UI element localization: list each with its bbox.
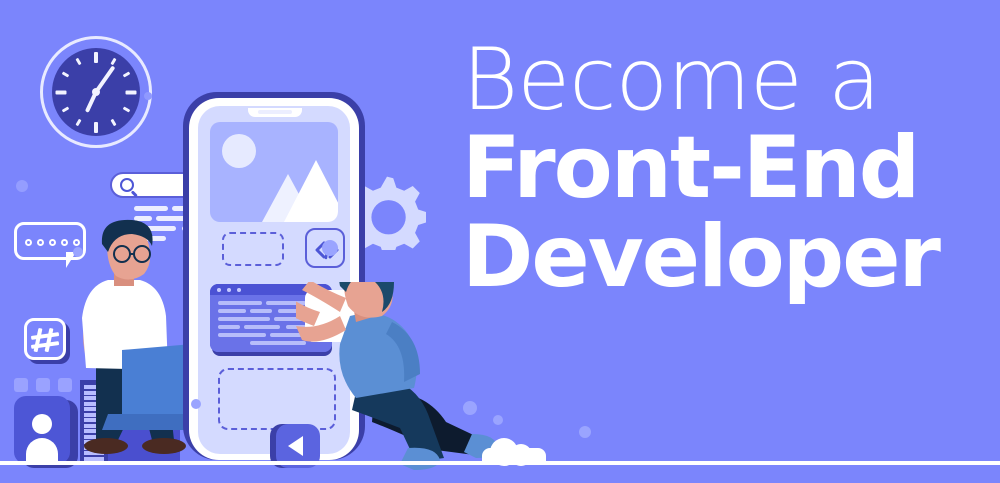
cloud-shape [482, 434, 546, 462]
banner-root: Become a Front-End Developer [0, 0, 1000, 483]
clock-tick [62, 106, 70, 112]
clock-tick [110, 58, 116, 66]
hashtag-stroke [34, 328, 42, 352]
user-icon-head [32, 414, 52, 434]
headline-line-developer: Developer [462, 215, 982, 299]
chat-bubble-dot [37, 239, 44, 246]
developer-kneeling [296, 282, 506, 472]
chat-bubble-dot [49, 239, 56, 246]
search-result-line [134, 206, 168, 211]
editor-code-line [218, 301, 262, 305]
clock-tick [123, 71, 131, 77]
clock-tick [75, 119, 81, 127]
hashtag-stroke [45, 328, 53, 352]
editor-window-dot [237, 288, 241, 292]
ground-line [0, 461, 1000, 465]
editor-code-line [244, 325, 280, 329]
chat-bubble-dot [25, 239, 32, 246]
clock-tick [75, 58, 81, 66]
editor-window-dot [217, 288, 221, 292]
clock-tick [110, 119, 116, 127]
decorative-dot [16, 180, 28, 192]
headline-line-front-end: Front-End [462, 126, 982, 210]
clock-hour-hand [85, 91, 98, 113]
clock-tick [94, 52, 98, 63]
clock-tick [94, 122, 98, 133]
clock-minute-hand [94, 65, 115, 93]
editor-code-line [218, 333, 266, 337]
editor-window-dot [227, 288, 231, 292]
headline-line-become: Become a [462, 38, 982, 122]
dashed-slot-small[interactable] [222, 232, 284, 266]
clock-face [52, 48, 140, 136]
grid-square [14, 378, 28, 392]
headline-block: Become a Front-End Developer [462, 38, 982, 299]
clock-tick [62, 71, 70, 77]
editor-code-line [218, 309, 246, 313]
smartphone-speaker [258, 110, 292, 114]
editor-code-line [218, 325, 240, 329]
hashtag-stroke [31, 332, 59, 339]
clock-tick [126, 90, 137, 94]
grid-square [36, 378, 50, 392]
image-placeholder-sun [222, 134, 256, 168]
clock-tick [56, 90, 67, 94]
code-button[interactable] [305, 228, 345, 268]
editor-code-line [218, 317, 270, 321]
clock-tick [123, 106, 131, 112]
editor-code-line [250, 309, 272, 313]
decorative-dot [579, 426, 591, 438]
